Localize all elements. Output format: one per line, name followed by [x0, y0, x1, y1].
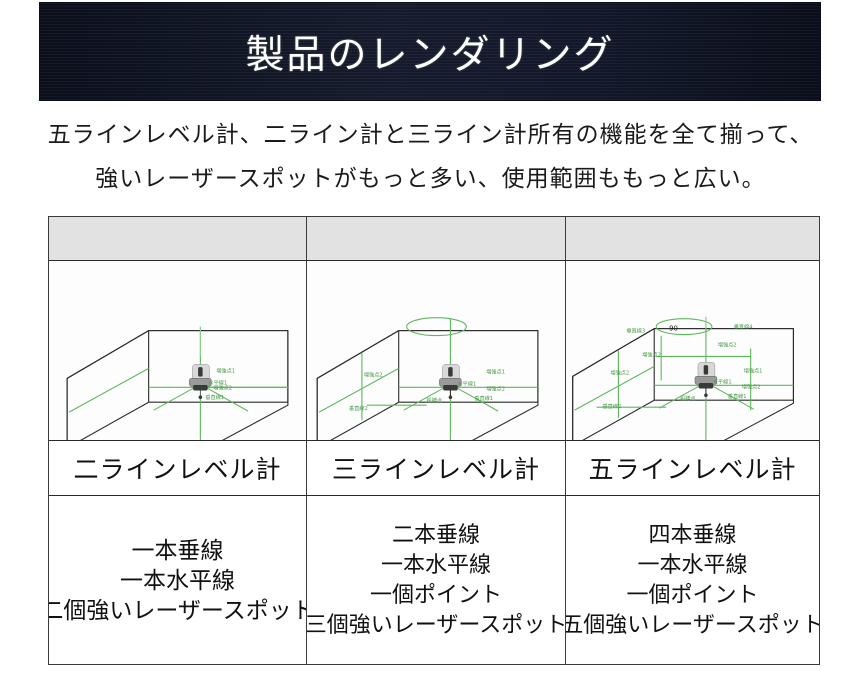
- label-plumb: 鉛錘点: [427, 396, 442, 404]
- description-cell-five-line: 四本垂線 一本水平線 一個ポイント 五個強いレーザースポット: [566, 496, 819, 664]
- label-horiz1: 水平線1: [713, 377, 732, 385]
- subtitle-block: 五ラインレベル計、二ライン計と三ライン計所有の機能を全て揃って、 強いレーザース…: [0, 112, 861, 200]
- desc-three-line-4: 三個強いレーザースポット: [307, 610, 566, 640]
- subtitle-line-2: 強いレーザースポットがもっと多い、使用範囲ももっと広い。: [0, 156, 861, 200]
- table-description-row: 一本垂線 一本水平線 二個強いレーザースポット 二本垂線 一本水平線 一個ポイン…: [49, 496, 819, 664]
- description-cell-three-line: 二本垂線 一本水平線 一個ポイント 三個強いレーザースポット: [307, 496, 566, 664]
- label-enhance2-b: 増強点2: [642, 350, 661, 358]
- label-vert2: 垂直線2: [603, 402, 622, 410]
- label-enhance2-a: 増強点2: [718, 341, 737, 349]
- product-name-two-line: 二ラインレベル計: [73, 450, 281, 486]
- label-horiz1: 水平線1: [457, 379, 476, 387]
- diagram-cell-two-line: 増強点1 増強点2 水平線1 垂直線1: [49, 261, 307, 440]
- label-vert4: 垂直線4: [734, 323, 753, 331]
- table-header-cell-3: [566, 217, 819, 260]
- page-header-banner: 製品のレンダリング: [40, 3, 820, 100]
- product-name-five-line: 五ラインレベル計: [588, 450, 796, 486]
- desc-three-line-3: 一個ポイント: [370, 580, 502, 610]
- label-horiz1: 水平線1: [208, 378, 227, 386]
- two-line-room-diagram: 増強点1 増強点2 水平線1 垂直線1: [49, 261, 306, 440]
- table-diagram-row: 増強点1 増強点2 水平線1 垂直線1: [49, 261, 819, 441]
- label-enhance1: 増強点1: [216, 366, 235, 374]
- product-name-three-line: 三ラインレベル計: [332, 450, 540, 486]
- desc-two-line-1: 一本垂線: [132, 535, 224, 565]
- room-outline: [67, 331, 288, 440]
- desc-five-line-3: 一個ポイント: [626, 580, 758, 610]
- label-vert1: 垂直線1: [474, 394, 493, 402]
- label-vert3: 垂直線3: [626, 327, 645, 335]
- product-name-cell-two-line: 二ラインレベル計: [49, 441, 307, 495]
- diagram-cell-five-line: 90 垂直線3 垂直線4 増強点2 増強点2 増強点2 増強点1 増強点2 垂直…: [566, 261, 819, 440]
- label-enhance2-right: 増強点2: [486, 384, 505, 392]
- desc-five-line-1: 四本垂線: [648, 520, 736, 550]
- desc-three-line-2: 一本水平線: [381, 550, 491, 580]
- desc-three-line-1: 二本垂線: [392, 520, 480, 550]
- page-title: 製品のレンダリング: [245, 24, 614, 80]
- label-vert1: 垂直線1: [728, 392, 747, 400]
- laser-lines: [575, 317, 794, 440]
- desc-two-line-2: 一本水平線: [120, 565, 235, 595]
- product-comparison-table: 増強点1 増強点2 水平線1 垂直線1: [48, 216, 820, 665]
- diagram-cell-three-line: 増強点2 垂直線2 増強点1 増強点2 水平線1 鉛錘点 垂直線1: [307, 261, 566, 440]
- subtitle-line-1: 五ラインレベル計、二ライン計と三ライン計所有の機能を全て揃って、: [0, 112, 861, 156]
- label-enhance2-d: 増強点2: [742, 382, 761, 390]
- label-vert2: 垂直線2: [349, 404, 368, 412]
- label-enhance1: 増強点1: [744, 366, 763, 374]
- table-name-row: 二ラインレベル計 三ラインレベル計 五ラインレベル計: [49, 441, 819, 496]
- description-cell-two-line: 一本垂線 一本水平線 二個強いレーザースポット: [49, 496, 307, 664]
- label-plumb: 鉛錘点: [680, 394, 695, 402]
- laser-lines: [319, 318, 538, 440]
- three-line-room-diagram: 増強点2 垂直線2 増強点1 増強点2 水平線1 鉛錘点 垂直線1: [307, 261, 565, 440]
- product-name-cell-three-line: 三ラインレベル計: [307, 441, 566, 495]
- five-line-room-diagram: 90 垂直線3 垂直線4 増強点2 増強点2 増強点2 増強点1 増強点2 垂直…: [566, 261, 819, 440]
- desc-two-line-3: 二個強いレーザースポット: [49, 595, 307, 625]
- product-name-cell-five-line: 五ラインレベル計: [566, 441, 819, 495]
- label-enhance2-left: 増強点2: [364, 370, 383, 378]
- label-enhance2-c: 増強点2: [610, 368, 629, 376]
- table-header-cell-1: [49, 217, 307, 260]
- label-enhance1: 増強点1: [486, 367, 505, 375]
- label-vert1: 垂直線1: [205, 393, 224, 401]
- label-angle-90: 90: [669, 325, 678, 333]
- table-header-row: [49, 217, 819, 261]
- desc-five-line-2: 一本水平線: [637, 550, 747, 580]
- desc-five-line-4: 五個強いレーザースポット: [566, 610, 819, 640]
- table-header-cell-2: [307, 217, 566, 260]
